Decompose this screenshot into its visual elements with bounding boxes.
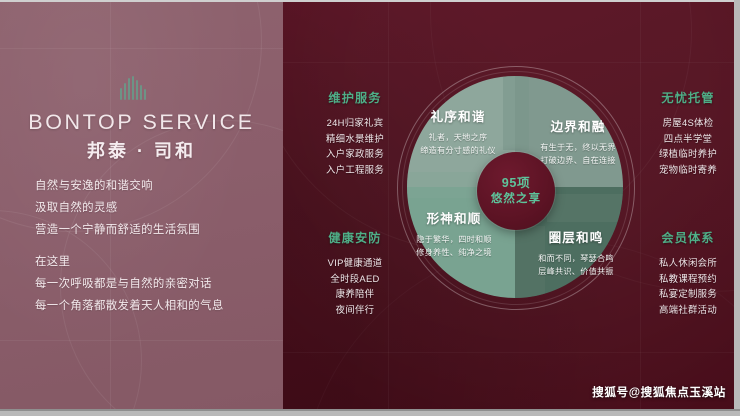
bars-mark-icon: [120, 76, 146, 100]
service-category-title: 会员体系: [628, 228, 740, 246]
service-item: 私教课程预约: [628, 271, 740, 287]
copy-line: 汲取自然的灵感: [35, 197, 265, 219]
quadrant-subline: 有生于无，终以无界: [520, 141, 636, 154]
copy-line: 营造一个宁静而舒适的生活氛围: [35, 219, 265, 241]
core-label: 悠然之享: [491, 191, 541, 207]
brand-panel: BONTOP SERVICE 邦泰 · 司和 自然与安逸的和谐交响 汲取自然的灵…: [0, 0, 283, 409]
brand-copy: 自然与安逸的和谐交响 汲取自然的灵感 营造一个宁静而舒适的生活氛围 在这里 每一…: [35, 175, 265, 317]
service-category-title: 无忧托管: [628, 88, 740, 106]
slide-canvas: BONTOP SERVICE 邦泰 · 司和 自然与安逸的和谐交响 汲取自然的灵…: [0, 0, 740, 416]
service-column-worryfree-custody: 无忧托管 房屋4S体检 四点半学堂 绿植临时养护 宠物临时寄养: [628, 88, 740, 177]
service-item: 私宴定制服务: [628, 286, 740, 302]
copy-line: 自然与安逸的和谐交响: [35, 175, 265, 197]
quadrant-subline: 礼者，天地之序: [400, 131, 516, 144]
quadrant-title: 边界和融: [520, 116, 636, 135]
right-frame-bar: [734, 0, 740, 409]
copy-line: 在这里: [35, 251, 265, 273]
quadrant-notch-left: [407, 172, 477, 198]
diagram-core-badge: 95项 悠然之享: [477, 152, 555, 230]
quadrant-subline: 层峰共识、价值共振: [516, 265, 636, 278]
quadrant-label-top-left: 礼序和谐 礼者，天地之序 缔造有分寸感的礼仪: [400, 106, 516, 157]
service-item: 房屋4S体检: [628, 115, 740, 131]
quadrant-subline: 修身养性、纯净之境: [394, 246, 514, 259]
copy-line: 每一次呼吸都是与自然的亲密对话: [35, 273, 265, 295]
quadrant-title: 圈层和鸣: [516, 227, 636, 246]
service-column-membership: 会员体系 私人休闲会所 私教课程预约 私宴定制服务 高端社群活动: [628, 228, 740, 317]
top-frame-line: [0, 0, 740, 2]
quadrant-title: 礼序和谐: [400, 106, 516, 125]
brand-name-cn: 邦泰 · 司和: [0, 137, 283, 163]
panel-hline-1: [0, 48, 283, 49]
service-item: 高端社群活动: [628, 302, 740, 318]
copy-spacer: [35, 241, 265, 251]
quadrant-label-bottom-right: 圈层和鸣 和而不同，琴瑟合鸣 层峰共识、价值共振: [516, 227, 636, 278]
quadrant-diagram: 礼序和谐 礼者，天地之序 缔造有分寸感的礼仪 边界和融 有生于无，终以无界 打破…: [394, 62, 636, 312]
quadrant-subline: 和而不同，琴瑟合鸣: [516, 252, 636, 265]
copy-line: 每一个角落都散发着天人相和的气息: [35, 295, 265, 317]
service-item: 绿植临时养护: [628, 146, 740, 162]
service-item: 四点半学堂: [628, 131, 740, 147]
core-count: 95项: [502, 175, 530, 191]
service-item: 私人休闲会所: [628, 255, 740, 271]
service-item: 宠物临时寄养: [628, 162, 740, 178]
panel-hline-2: [0, 340, 283, 341]
brand-name-en: BONTOP SERVICE: [0, 110, 283, 135]
quadrant-notch-right: [547, 194, 623, 222]
quadrant-subline: 隐于繁华，四时和顺: [394, 233, 514, 246]
bottom-frame-bar: [0, 409, 740, 416]
watermark: 搜狐号@搜狐焦点玉溪站: [592, 384, 726, 400]
